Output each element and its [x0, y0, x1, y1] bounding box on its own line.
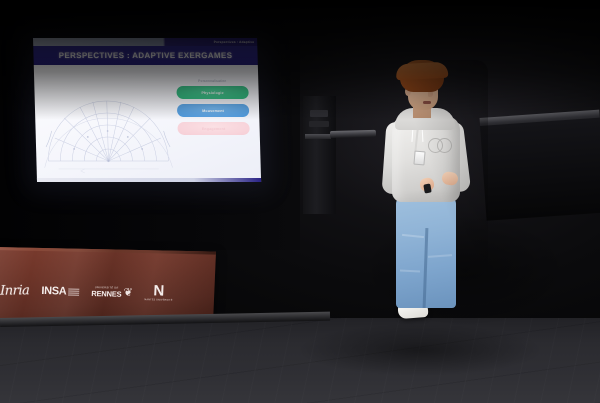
nantes-logo-subtitle: NANTES UNIVERSITÉ [144, 298, 172, 302]
inria-logo: Inria [0, 283, 29, 298]
rennes-emblem-icon: ❦ [123, 287, 133, 298]
insa-logo-lines [68, 288, 79, 295]
pillar-bracket-lower [309, 121, 329, 127]
insa-logo-text: INSA [41, 285, 67, 298]
floor-cast-shadow [300, 322, 600, 392]
rail-mount [305, 134, 331, 139]
sponsor-banner: Inria INSA UNIVERSITÉ DE RENNES ❦ N NANT… [0, 247, 216, 324]
lanyard-badge [413, 151, 425, 166]
universite-rennes-logo: UNIVERSITÉ DE RENNES ❦ [91, 286, 133, 299]
nantes-universite-logo: N NANTES UNIVERSITÉ [144, 285, 173, 301]
nantes-logo-letter: N [153, 285, 164, 298]
rennes-text-stack: UNIVERSITÉ DE RENNES [91, 286, 122, 299]
banner-logo-row: Inria INSA UNIVERSITÉ DE RENNES ❦ N NANT… [0, 273, 207, 311]
insa-logo: INSA [41, 285, 80, 298]
top-vignette [0, 0, 600, 120]
pill-engagement[interactable]: Engagement [177, 122, 249, 135]
presenter-remote[interactable] [423, 183, 431, 193]
slide-footer-bar [37, 178, 261, 182]
hoodie-circles-logo-icon [428, 138, 456, 152]
presentation-photo: Perspectives : Adaptive PERSPECTIVES : A… [0, 0, 600, 403]
rennes-logo-line2: RENNES [91, 289, 121, 299]
